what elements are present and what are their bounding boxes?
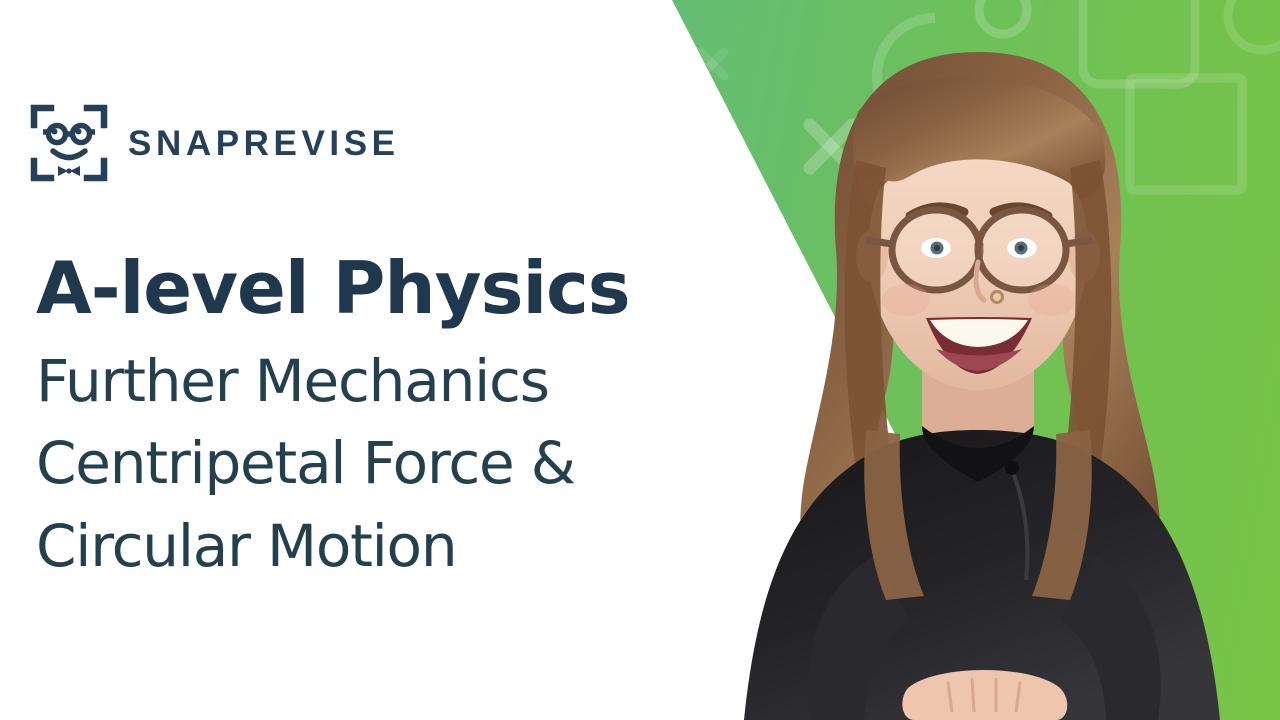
subtitle-line-3: Circular Motion — [36, 505, 756, 587]
subtitle-line-2: Centripetal Force & — [36, 422, 756, 504]
brand-logo-lockup[interactable]: SNAPREVISE — [30, 104, 400, 182]
snaprevise-face-bracket-icon — [30, 104, 108, 182]
subtitle-line-1: Further Mechanics — [36, 340, 756, 422]
lapel-mic-icon — [1005, 461, 1019, 475]
brand-wordmark: SNAPREVISE — [128, 126, 400, 161]
page-title: A-level Physics — [36, 252, 756, 324]
video-thumbnail: SNAPREVISE A-level Physics Further Mecha… — [0, 0, 1280, 720]
title-block: A-level Physics Further Mechanics Centri… — [36, 252, 756, 587]
